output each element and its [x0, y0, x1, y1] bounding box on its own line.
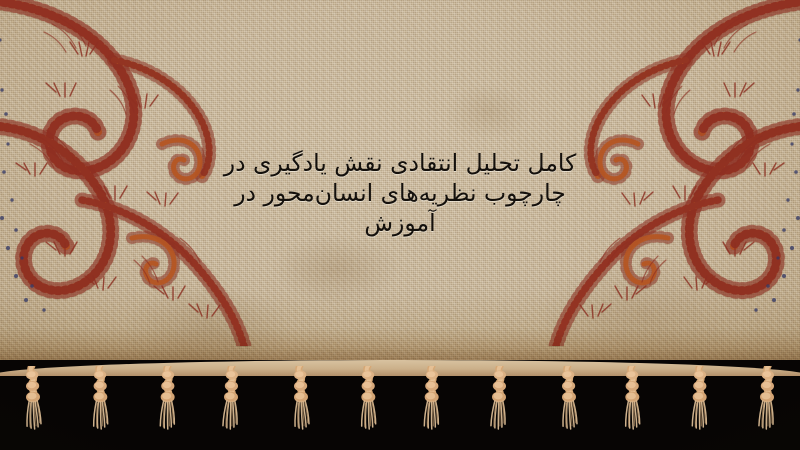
tassel — [87, 366, 113, 442]
slide-title: کامل تحلیل انتقادی نقش یادگیری در چارچوب… — [150, 148, 650, 238]
tassel — [19, 366, 45, 442]
tassel — [287, 366, 313, 442]
title-line-1: کامل تحلیل انتقادی نقش یادگیری در — [150, 148, 650, 178]
tassel — [487, 366, 513, 442]
title-slide: کامل تحلیل انتقادی نقش یادگیری در چارچوب… — [0, 0, 800, 450]
tassel — [419, 366, 445, 442]
tassel — [219, 366, 245, 442]
tassel — [555, 366, 581, 442]
tassel — [687, 366, 713, 442]
tassel — [355, 366, 381, 442]
tassel — [619, 366, 645, 442]
tassel-fringe — [0, 360, 800, 450]
title-line-2: چارچوب نظریه‌های انسان‌محور در — [150, 178, 650, 208]
tassel — [755, 366, 781, 442]
tassel — [155, 366, 181, 442]
title-line-3: آموزش — [150, 208, 650, 238]
